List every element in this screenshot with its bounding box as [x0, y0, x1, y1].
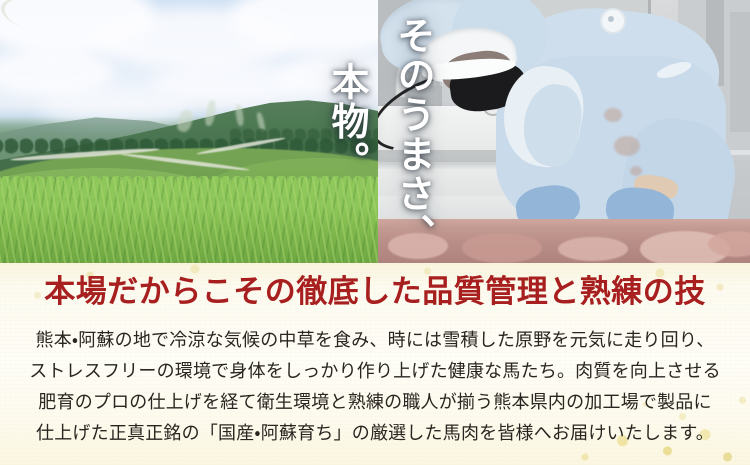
grass-texture — [0, 177, 378, 263]
apron-stain — [604, 108, 622, 122]
wall-panel — [730, 12, 750, 132]
panel-body-copy: 熊本・阿蘇の地で冷涼な気候の中草を食み、時には雪積した原野を元気に走り回り、 ス… — [0, 325, 750, 449]
panel-headline: 本場だからこその徹底した品質管理と熟練の技 — [0, 277, 750, 308]
body-line-2: ストレスフリーの環境で身体をしっかり作り上げた健康な馬たち。肉質を向上させる — [0, 356, 750, 387]
body-line-3: 肥育のプロの仕上げを経て衛生環境と熟練の職人が揃う熊本県内の加工場で製品に — [0, 387, 750, 418]
meat-piece — [558, 237, 628, 261]
body-line-4: 仕上げた正真正銘の「国産・阿蘇育ち」の厳選した馬肉を皆様へお届けいたします。 — [0, 418, 750, 449]
vertical-copy-line2: 本物。 — [320, 62, 375, 181]
promo-banner: そのうまさ、 本物。 本場だからこその徹底した品質管理と熟練の技 熊本・阿蘇の地… — [0, 0, 750, 465]
worker-badge — [600, 8, 626, 34]
apron-stain — [630, 166, 642, 176]
copy-panel: 本場だからこその徹底した品質管理と熟練の技 熊本・阿蘇の地で冷涼な気候の中草を食… — [0, 263, 750, 465]
apron-stain — [614, 136, 640, 156]
vertical-copy-line1: そのうまさ、 — [386, 16, 441, 253]
hero-photo-band: そのうまさ、 本物。 — [0, 0, 750, 263]
body-line-1: 熊本・阿蘇の地で冷涼な気候の中草を食み、時には雪積した原野を元気に走り回り、 — [0, 325, 750, 356]
meat-piece — [462, 233, 542, 263]
